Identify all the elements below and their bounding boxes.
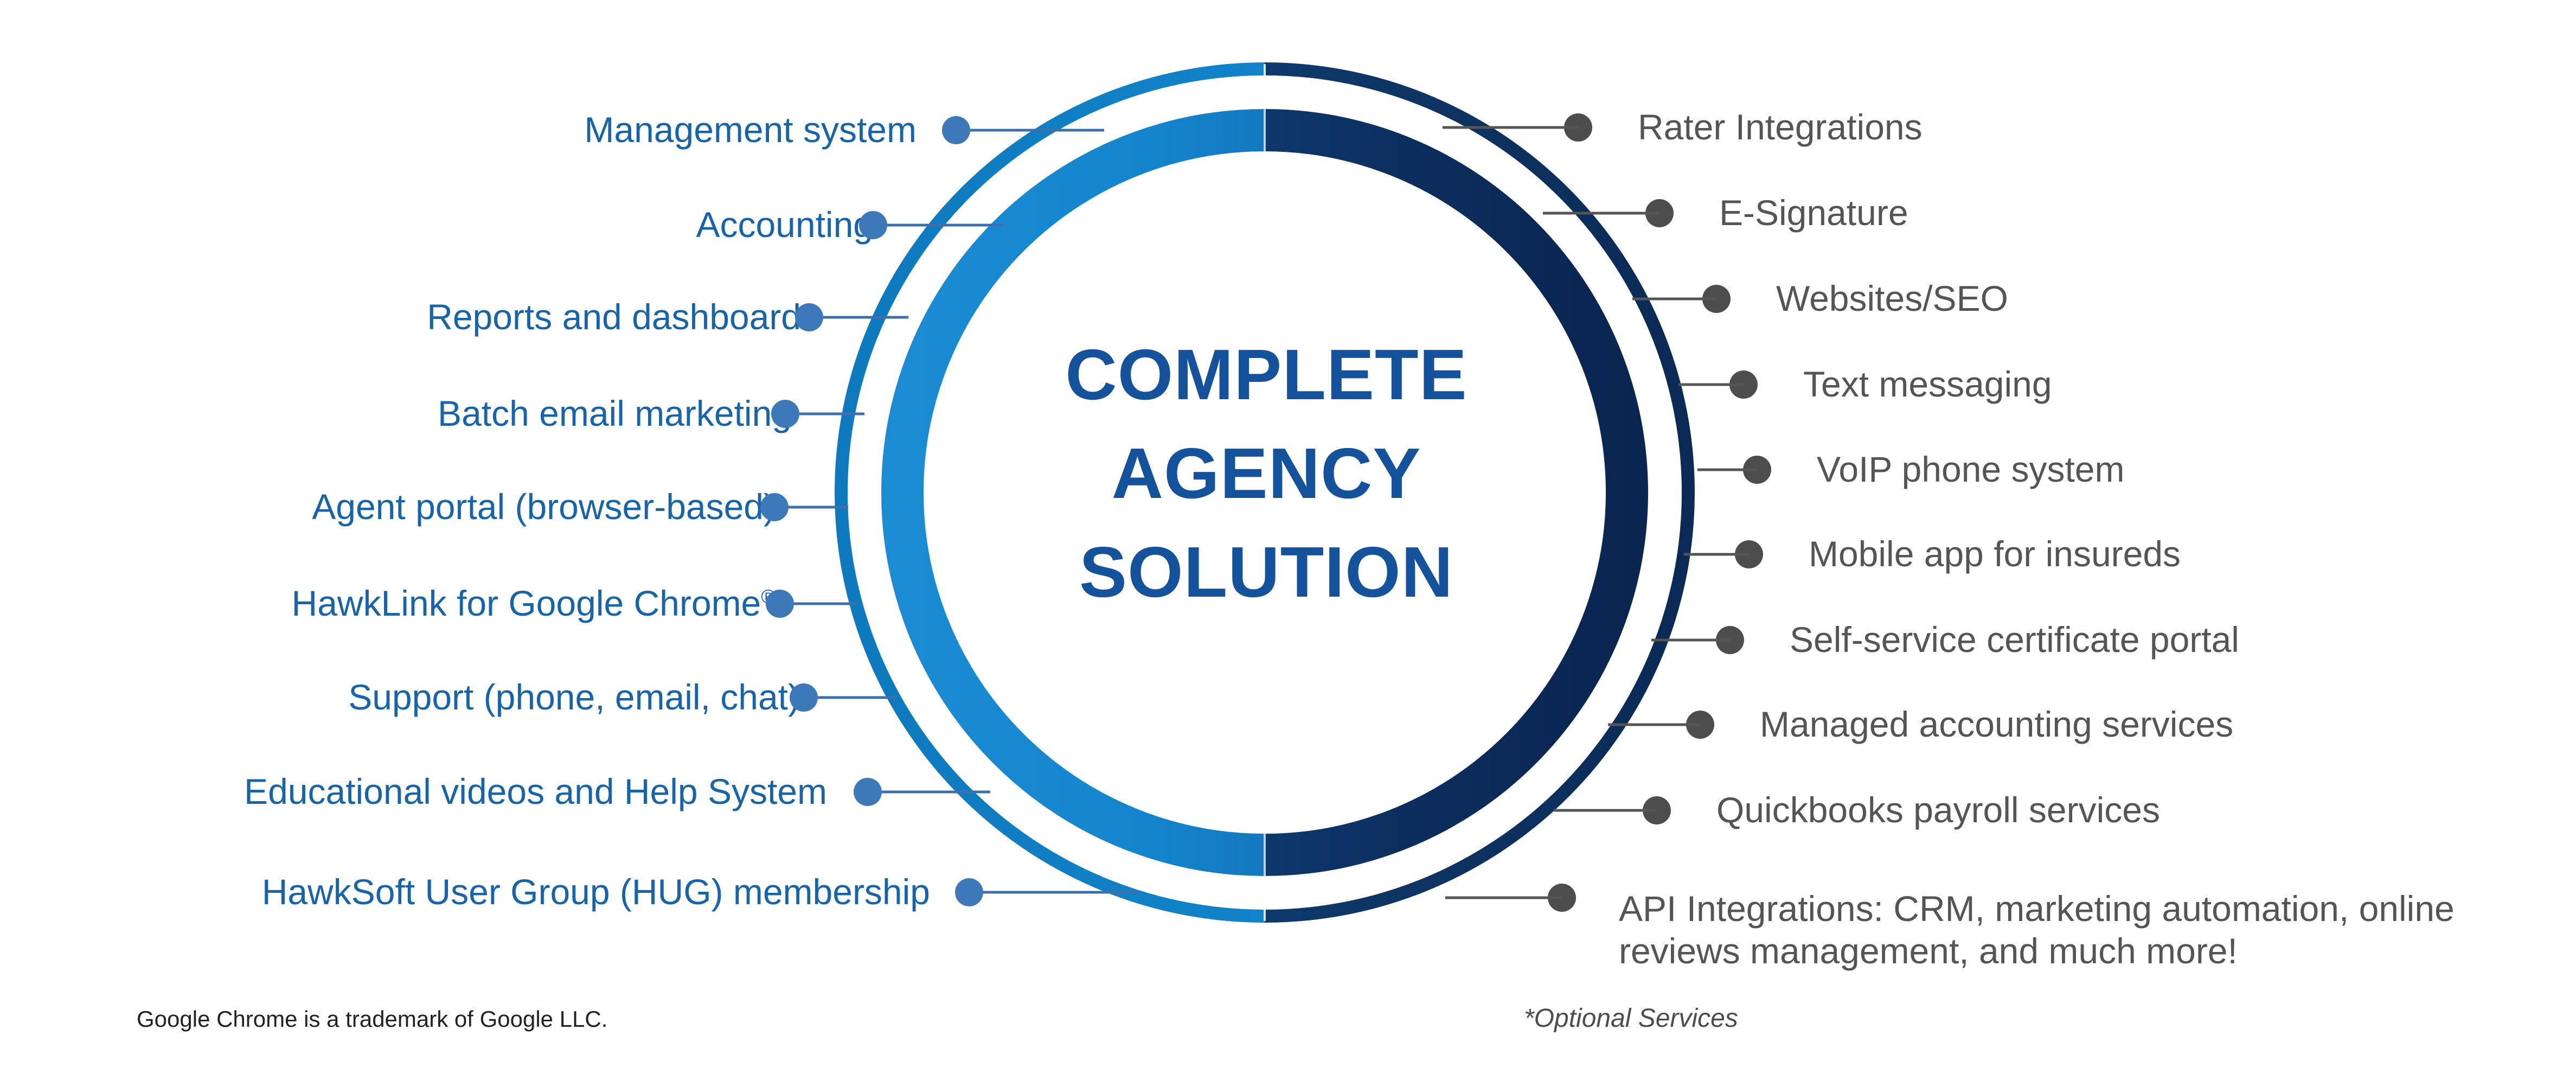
left-label-batch-email-marketing: Batch email marketing	[438, 393, 792, 435]
right-connector-text-messaging	[1678, 383, 1744, 386]
right-label-text-messaging: Text messaging	[1803, 363, 2052, 406]
left-connector-reports-and-dashboards	[823, 316, 908, 319]
left-dot-agent-portal[interactable]	[760, 493, 789, 521]
infographic-canvas: COMPLETE AGENCY SOLUTION Management syst…	[0, 0, 2576, 1087]
right-label-rater-integrations: Rater Integrations	[1638, 106, 1923, 149]
right-label-self-service-certificate-portal: Self-service certificate portal	[1790, 619, 2239, 661]
left-connector-support	[818, 696, 896, 699]
right-label-managed-accounting-services: Managed accounting services	[1760, 704, 2233, 746]
left-connector-management-system	[970, 129, 1104, 132]
center-title: COMPLETE AGENCY SOLUTION	[944, 325, 1589, 622]
left-dot-hawksoft-user-group[interactable]	[955, 878, 983, 906]
left-label-reports-and-dashboards: Reports and dashboards	[427, 296, 819, 338]
left-dot-batch-email-marketing[interactable]	[771, 400, 799, 428]
left-dot-support[interactable]	[790, 683, 818, 712]
left-label-hawksoft-user-group: HawkSoft User Group (HUG) membership	[262, 871, 930, 913]
right-connector-e-signature	[1543, 212, 1659, 215]
left-label-hawklink-text: HawkLink for Google Chrome	[292, 583, 761, 623]
left-connector-hawklink-google-chrome	[794, 603, 856, 605]
right-label-mobile-app-for-insureds: Mobile app for insureds	[1809, 533, 2181, 576]
left-connector-batch-email-marketing	[799, 413, 864, 415]
left-connector-accounting	[887, 224, 1004, 227]
right-connector-websites-seo	[1632, 298, 1716, 300]
left-dot-accounting[interactable]	[859, 211, 887, 239]
right-connector-rater-integrations	[1443, 126, 1578, 129]
left-label-accounting: Accounting	[696, 204, 873, 246]
left-connector-agent-portal	[789, 506, 848, 509]
right-connector-api-integrations	[1445, 897, 1562, 899]
left-label-educational-videos: Educational videos and Help System	[244, 771, 827, 813]
right-connector-quickbooks-payroll-services	[1554, 809, 1657, 812]
left-dot-hawklink-google-chrome[interactable]	[766, 590, 794, 618]
left-connector-educational-videos	[882, 791, 990, 794]
right-label-voip-phone-system: VoIP phone system	[1817, 449, 2124, 491]
left-label-management-system: Management system	[584, 109, 917, 151]
right-label-quickbooks-payroll-services: Quickbooks payroll services	[1716, 789, 2160, 832]
center-title-line-1: COMPLETE	[944, 325, 1589, 424]
left-label-support: Support (phone, email, chat)	[348, 676, 800, 719]
right-connector-managed-accounting-services	[1608, 724, 1700, 726]
footnote-google-trademark: Google Chrome is a trademark of Google L…	[137, 1006, 607, 1032]
right-connector-self-service-certificate-portal	[1651, 639, 1730, 642]
left-dot-management-system[interactable]	[942, 116, 970, 144]
right-label-api-integrations: API Integrations: CRM, marketing automat…	[1619, 888, 2497, 973]
left-label-agent-portal: Agent portal (browser-based)	[312, 486, 776, 528]
right-label-e-signature: E-Signature	[1719, 192, 1908, 234]
footnote-optional-services: *Optional Services	[1524, 1003, 1738, 1033]
left-dot-educational-videos[interactable]	[854, 778, 882, 806]
right-connector-voip-phone-system	[1697, 469, 1757, 471]
right-label-websites-seo: Websites/SEO	[1776, 278, 2008, 320]
left-dot-reports-and-dashboards[interactable]	[795, 303, 823, 331]
center-title-line-3: SOLUTION	[944, 523, 1589, 622]
left-label-hawklink-google-chrome: HawkLink for Google Chrome®	[292, 583, 776, 625]
left-connector-hawksoft-user-group	[983, 891, 1140, 894]
center-title-line-2: AGENCY	[944, 424, 1589, 523]
right-connector-mobile-app-for-insureds	[1684, 553, 1749, 556]
